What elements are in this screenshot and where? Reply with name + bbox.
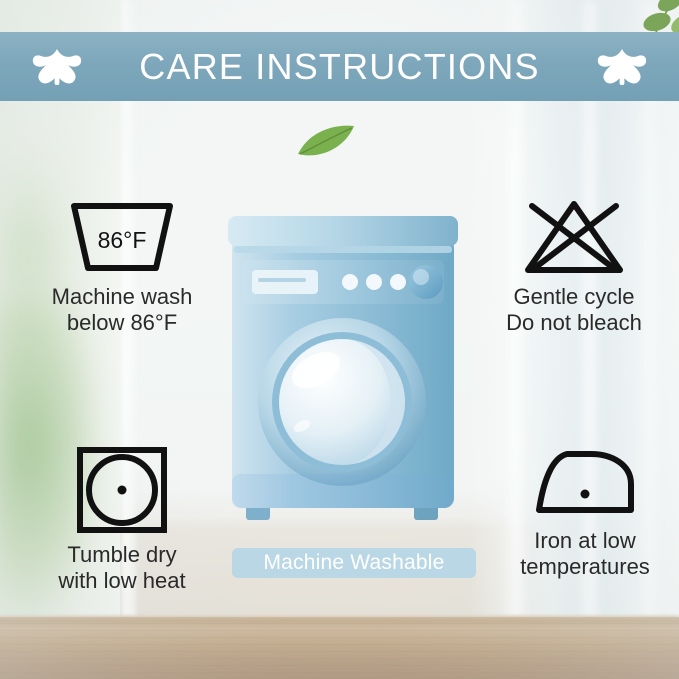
flying-leaf-icon (296, 124, 356, 160)
fleur-de-lis-icon (591, 45, 653, 89)
machine-washable-badge-text: Machine Washable (263, 551, 444, 575)
care-label-iron-low: Iron at low temperatures (492, 528, 678, 580)
care-item-gentle-cycle: Gentle cycle Do not bleach (474, 196, 674, 336)
do-not-bleach-triangle-icon (522, 196, 626, 278)
care-label-tumble-dry: Tumble dry with low heat (24, 542, 220, 594)
fleur-de-lis-icon (26, 45, 88, 89)
care-instructions-image: CARE INSTRUCTIONS (0, 0, 679, 679)
care-label-gentle-cycle: Gentle cycle Do not bleach (474, 284, 674, 336)
care-label-machine-wash: Machine wash below 86°F (16, 284, 228, 336)
tumble-dry-low-heat-icon (74, 444, 170, 536)
wash-temperature-text: 86°F (98, 227, 147, 253)
page-title: CARE INSTRUCTIONS (139, 46, 539, 88)
wash-tub-icon: 86°F (66, 196, 178, 278)
machine-washable-badge: Machine Washable (232, 548, 476, 578)
header-banner: CARE INSTRUCTIONS (0, 32, 679, 101)
iron-low-temperature-icon (533, 444, 637, 522)
care-item-tumble-dry: Tumble dry with low heat (24, 444, 220, 594)
care-item-iron-low: Iron at low temperatures (492, 444, 678, 580)
table-wood-grain (0, 623, 679, 679)
care-item-machine-wash: 86°F Machine wash below 86°F (16, 196, 228, 336)
washing-machine-illustration (228, 212, 474, 537)
